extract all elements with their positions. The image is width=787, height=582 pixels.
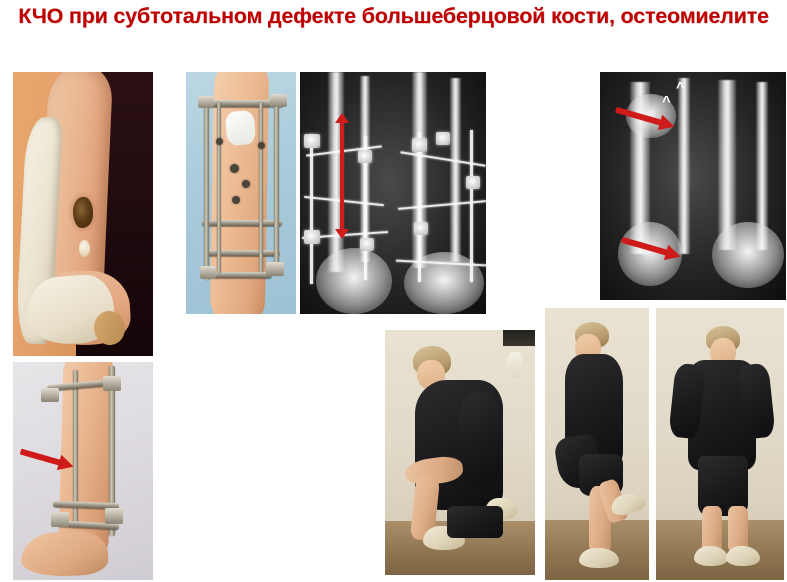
figure-leg-in-frame [13,362,153,580]
fixator-rod-xray-left [310,134,313,284]
fixator-nut-6 [360,238,374,251]
figure-result-standing [656,308,784,580]
wall-lamp [507,352,523,378]
fixator-ring-lower [204,250,280,256]
fixator-nut-5 [304,230,320,244]
wound-dressing [224,110,255,146]
arrow-head-down [335,229,349,239]
patient-shoe-standing [579,548,619,568]
patient-foot [21,531,109,578]
fixator-clamp-bottom-left [200,266,216,279]
fixator-pin-4 [216,138,223,145]
distal-bone-mass-right [712,222,784,288]
fibula-shadow-right [450,78,461,262]
fibula-shadow-left [678,78,690,254]
fixator-nut-3 [412,138,427,152]
fixator-nut-4 [436,132,450,145]
fixator-rod-xray-right [418,132,421,282]
patient-shoe-right [726,546,760,566]
doorway [503,330,535,346]
fixator-ring-mid [202,220,282,226]
fixator-pin-5 [258,142,265,149]
page-title: КЧО при субтотальном дефекте большеберцо… [0,2,787,30]
fixator-clamp-bottom-right [266,262,284,276]
fixator-rod-left [204,98,209,280]
figure-result-squat [385,330,535,575]
frame-clamp-lower-right [105,508,123,524]
fixator-rod-left-inner [217,102,221,274]
seat-block [447,506,503,538]
frame-clamp-top [41,388,59,402]
fixator-pin-3 [232,196,240,204]
fixator-clamp-top-left [198,96,214,108]
distal-bone-mass-left [316,248,392,314]
fixator-rod-right [274,98,279,276]
fixator-nut-1 [304,134,320,148]
fixator-nut-2 [358,150,372,163]
chevron-marker-icon: ^ [662,94,671,109]
frame-clamp-lower-left [51,512,69,527]
fixator-rod-xray-far-right [470,130,473,282]
figure-xray-regenerate: ^ ^ [600,72,786,300]
fixator-nut-7 [414,222,428,235]
fixator-nut-8 [466,176,480,189]
chevron-marker-icon: ^ [676,80,685,95]
osteomyelitis-ulcer [73,197,93,228]
figure-result-one-leg [545,308,649,580]
fixator-pin-1 [230,164,239,173]
figure-preop-ulcer [13,72,153,356]
fixator-rod-right-inner [259,102,263,272]
patient-shoe-left [694,546,728,566]
secondary-lesion [79,240,90,257]
arrow-shaft [340,122,344,230]
figure-xray-fixator [300,72,486,314]
fixator-clamp-top-right [270,94,287,107]
patient-arm [459,392,499,488]
arrow-head-up [335,113,349,123]
frame-clamp-upper-right [103,376,121,391]
figure-apparatus-leg [186,72,296,314]
fixator-pin-2 [242,180,250,188]
